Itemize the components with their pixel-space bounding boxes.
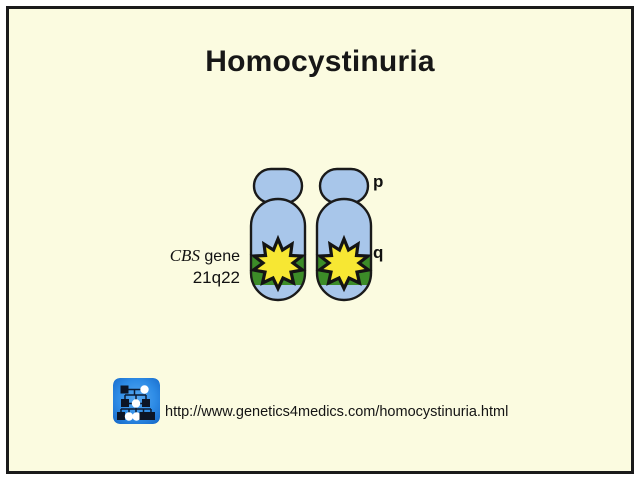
page-title: Homocystinuria [0, 45, 640, 79]
gene-word-label: gene [204, 248, 240, 265]
arm-label-p: p [373, 172, 383, 192]
source-url-text[interactable]: http://www.genetics4medics.com/homocysti… [165, 382, 508, 420]
arm-label-q: q [373, 243, 383, 263]
gene-locus-label: CBS gene 21q22 [0, 245, 240, 288]
source-attribution: http://www.genetics4medics.com/homocysti… [113, 378, 508, 424]
slide-canvas: Homocystinuria CBS gene 21q22 [0, 0, 640, 480]
slide-frame: Homocystinuria CBS gene 21q22 [0, 0, 640, 480]
cytoband-label: 21q22 [0, 267, 240, 288]
chromosome-right [313, 160, 375, 310]
chromosome-pair-figure: CBS gene 21q22 [165, 160, 425, 310]
gene-name-label: CBS [170, 246, 200, 265]
pedigree-chart-icon [113, 378, 160, 424]
chromosome-left [247, 160, 309, 310]
